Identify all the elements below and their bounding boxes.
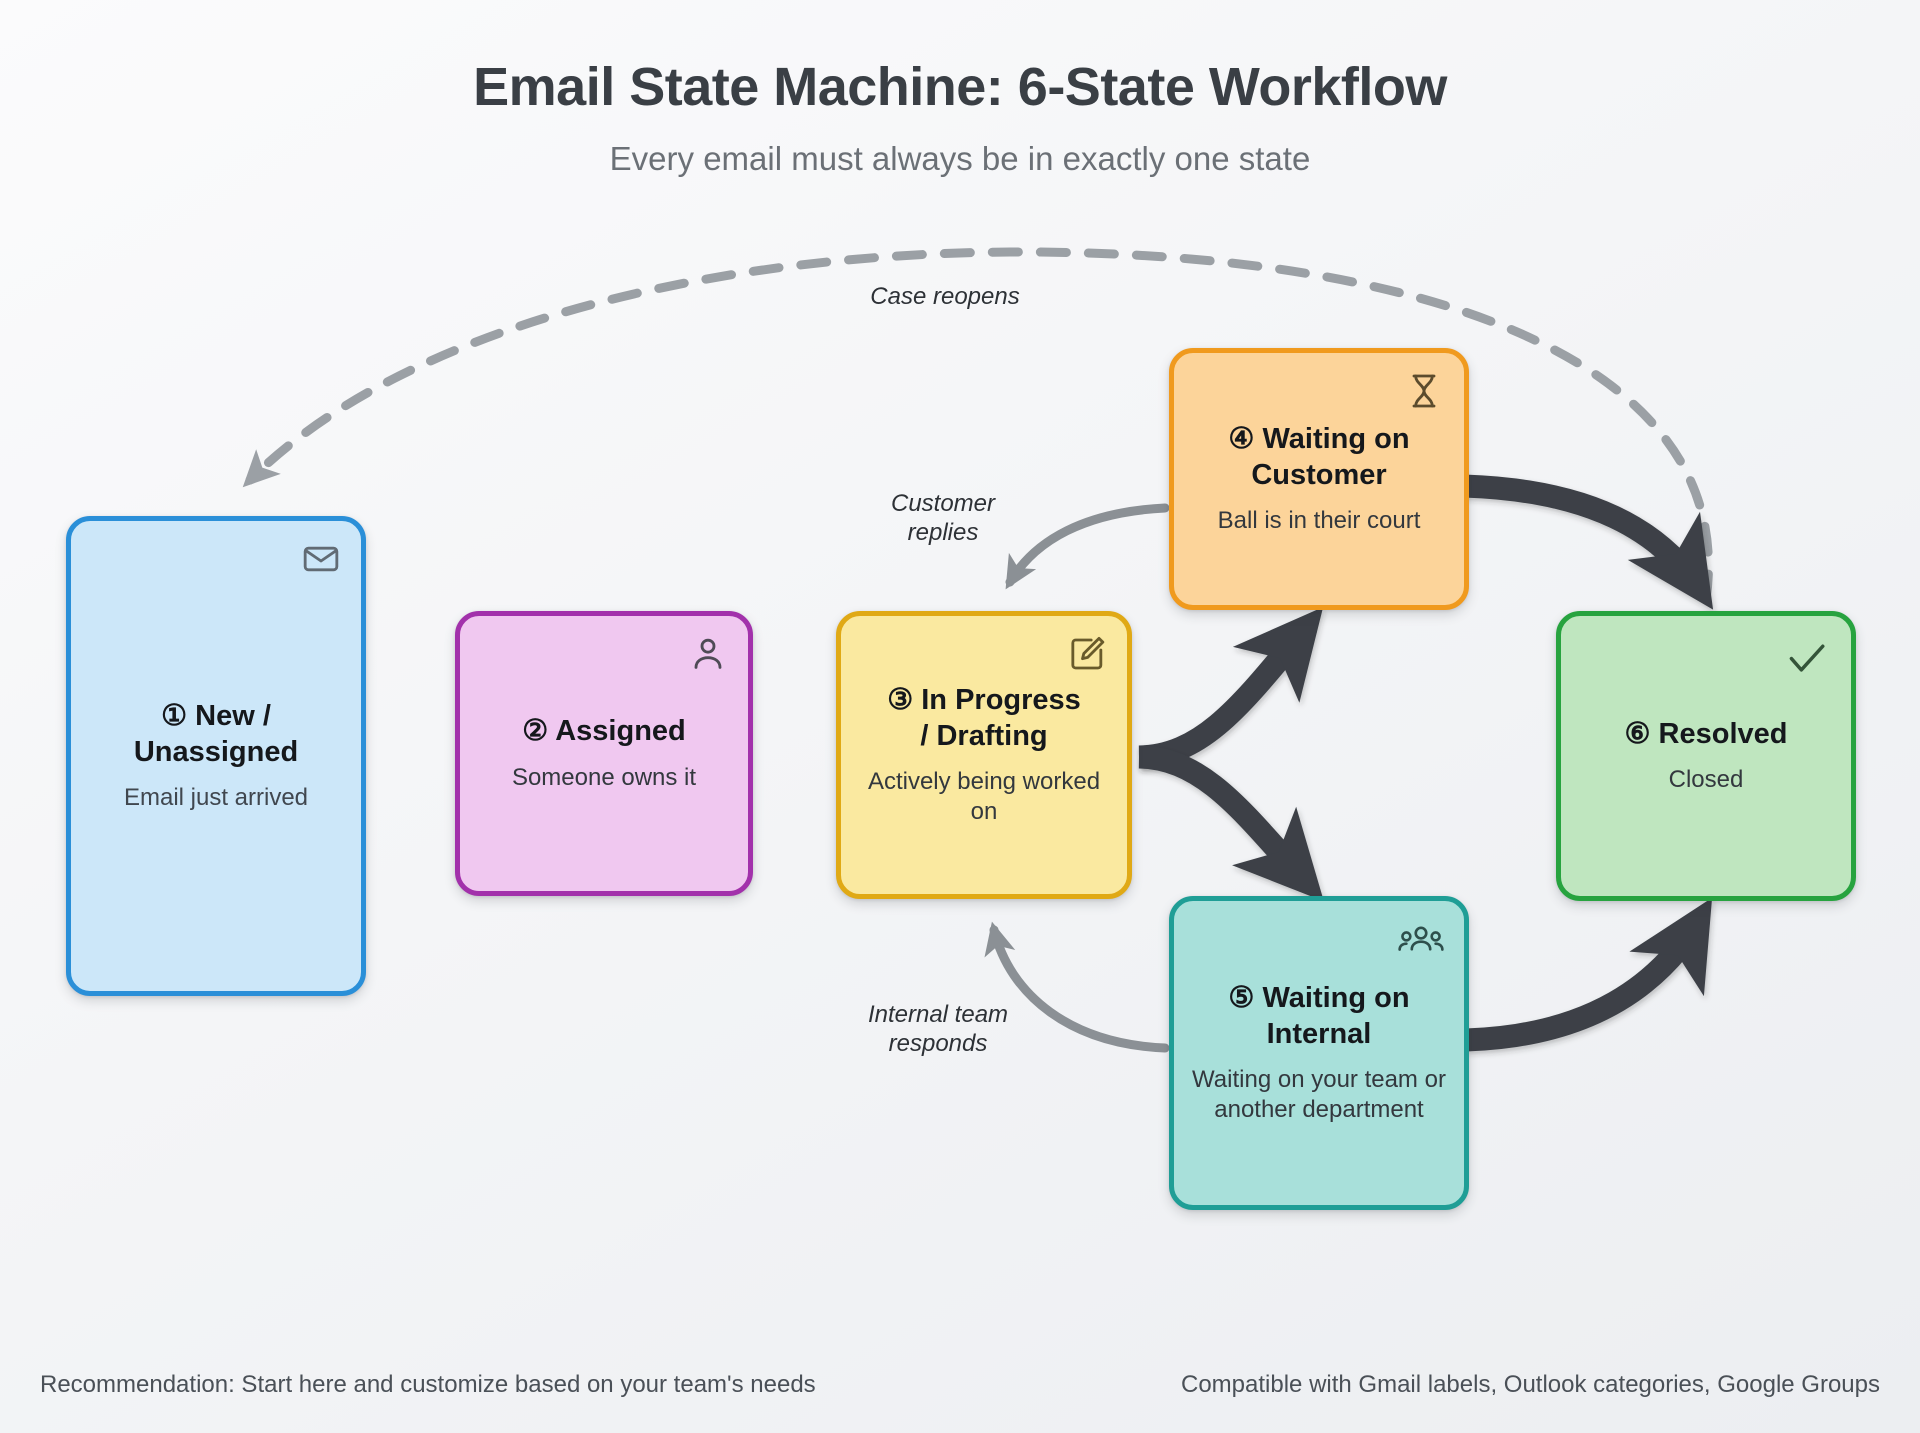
state-number: ③ xyxy=(887,684,913,716)
state-number: ④ xyxy=(1228,423,1254,455)
state-number: ① xyxy=(161,700,187,732)
state-name: Waiting on Customer xyxy=(1251,423,1409,490)
hourglass-icon xyxy=(1404,371,1444,411)
footer-compatibility: Compatible with Gmail labels, Outlook ca… xyxy=(1181,1371,1880,1399)
pencil-square-icon xyxy=(1067,634,1107,674)
state-title: ① New / Unassigned xyxy=(120,699,312,770)
state-node-waiting-on-internal[interactable]: ⑤ Waiting on Internal Waiting on your te… xyxy=(1169,896,1469,1210)
state-description: Closed xyxy=(1653,765,1760,795)
state-node-assigned[interactable]: ② Assigned Someone owns it xyxy=(455,611,753,896)
state-description: Ball is in their court xyxy=(1202,506,1437,536)
state-name: In Progress / Drafting xyxy=(920,684,1080,751)
person-icon xyxy=(688,634,728,674)
state-node-in-progress-drafting[interactable]: ③ In Progress / Drafting Actively being … xyxy=(836,611,1132,899)
state-name: Assigned xyxy=(555,715,686,747)
state-name: Waiting on Internal xyxy=(1262,982,1409,1049)
state-title: ⑥ Resolved xyxy=(1610,717,1801,752)
state-description: Email just arrived xyxy=(108,783,324,813)
state-name: Resolved xyxy=(1659,718,1788,750)
edge-label-case-reopens: Case reopens xyxy=(805,282,1085,311)
edge-progress-to-waiting-internal xyxy=(1139,757,1308,884)
state-description: Waiting on your team or another departme… xyxy=(1174,1065,1464,1125)
state-node-new-unassigned[interactable]: ① New / Unassigned Email just arrived xyxy=(66,516,366,996)
diagram-footer: Recommendation: Start here and customize… xyxy=(0,1371,1920,1399)
envelope-icon xyxy=(301,539,341,579)
state-number: ② xyxy=(522,715,548,747)
state-title: ⑤ Waiting on Internal xyxy=(1214,981,1423,1052)
edge-waiting-customer-to-resolved xyxy=(1464,486,1700,590)
state-name: New / Unassigned xyxy=(134,700,298,767)
edge-label-customer-replies: Customer replies xyxy=(838,489,1048,548)
state-number: ⑤ xyxy=(1228,982,1254,1014)
state-description: Someone owns it xyxy=(496,763,712,793)
state-title: ③ In Progress / Drafting xyxy=(873,683,1095,754)
state-number: ⑥ xyxy=(1624,718,1650,750)
state-node-waiting-on-customer[interactable]: ④ Waiting on Customer Ball is in their c… xyxy=(1169,348,1469,610)
edge-progress-to-waiting-customer xyxy=(1139,625,1308,757)
edge-label-internal-responds: Internal team responds xyxy=(828,1000,1048,1059)
state-node-resolved[interactable]: ⑥ Resolved Closed xyxy=(1556,611,1856,901)
state-description: Actively being worked on xyxy=(841,767,1127,827)
state-title: ② Assigned xyxy=(508,714,700,749)
diagram-canvas: Case reopens Customer replies Internal t… xyxy=(0,0,1920,1433)
footer-recommendation: Recommendation: Start here and customize… xyxy=(40,1371,816,1399)
state-title: ④ Waiting on Customer xyxy=(1214,422,1423,493)
edge-waiting-internal-to-resolved xyxy=(1466,918,1700,1040)
check-icon xyxy=(1785,636,1829,680)
people-group-icon xyxy=(1398,919,1444,965)
